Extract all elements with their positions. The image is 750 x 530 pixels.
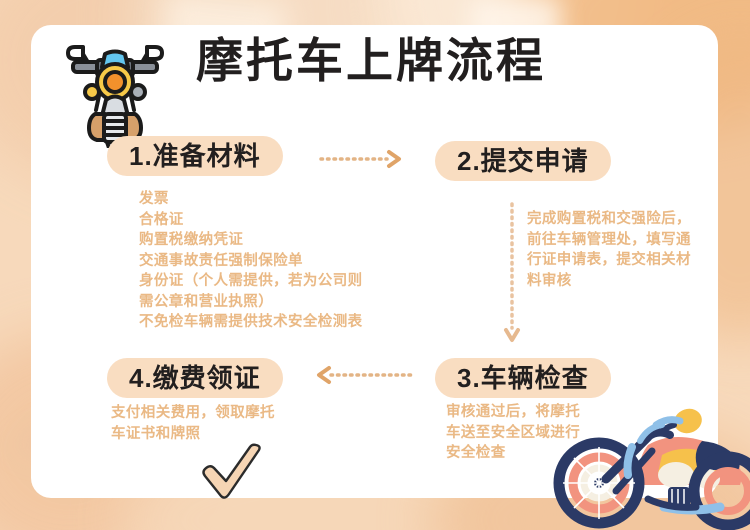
- arrow-right-dotted-icon: [319, 149, 407, 169]
- arrow-left-dotted-icon: [309, 365, 419, 385]
- step-2-body: 完成购置税和交强险后， 前往车辆管理处，填写通 行证申请表，提交相关材 料审核: [527, 209, 705, 291]
- motorcycle-illustration: [552, 395, 750, 530]
- arrow-down-dotted-icon: [501, 202, 523, 348]
- step-3-badge[interactable]: 3.车辆检查: [435, 358, 611, 398]
- poster-canvas: 摩托车上牌流程 1.准备材料 发票 合格证 购置税缴纳凭证 交通事故责任强制保险…: [0, 0, 750, 530]
- check-mark-icon: [199, 443, 265, 501]
- page-title: 摩托车上牌流程: [196, 37, 626, 84]
- step-1-body: 发票 合格证 购置税缴纳凭证 交通事故责任强制保险单 身份证（个人需提供，若为公…: [139, 189, 399, 333]
- motorcycle-front-icon: [59, 30, 171, 148]
- step-2-badge[interactable]: 2.提交申请: [435, 141, 611, 181]
- step-1-badge[interactable]: 1.准备材料: [107, 136, 283, 176]
- step-4-body: 支付相关费用，领取摩托 车证书和牌照: [111, 403, 311, 444]
- step-4-badge[interactable]: 4.缴费领证: [107, 358, 283, 398]
